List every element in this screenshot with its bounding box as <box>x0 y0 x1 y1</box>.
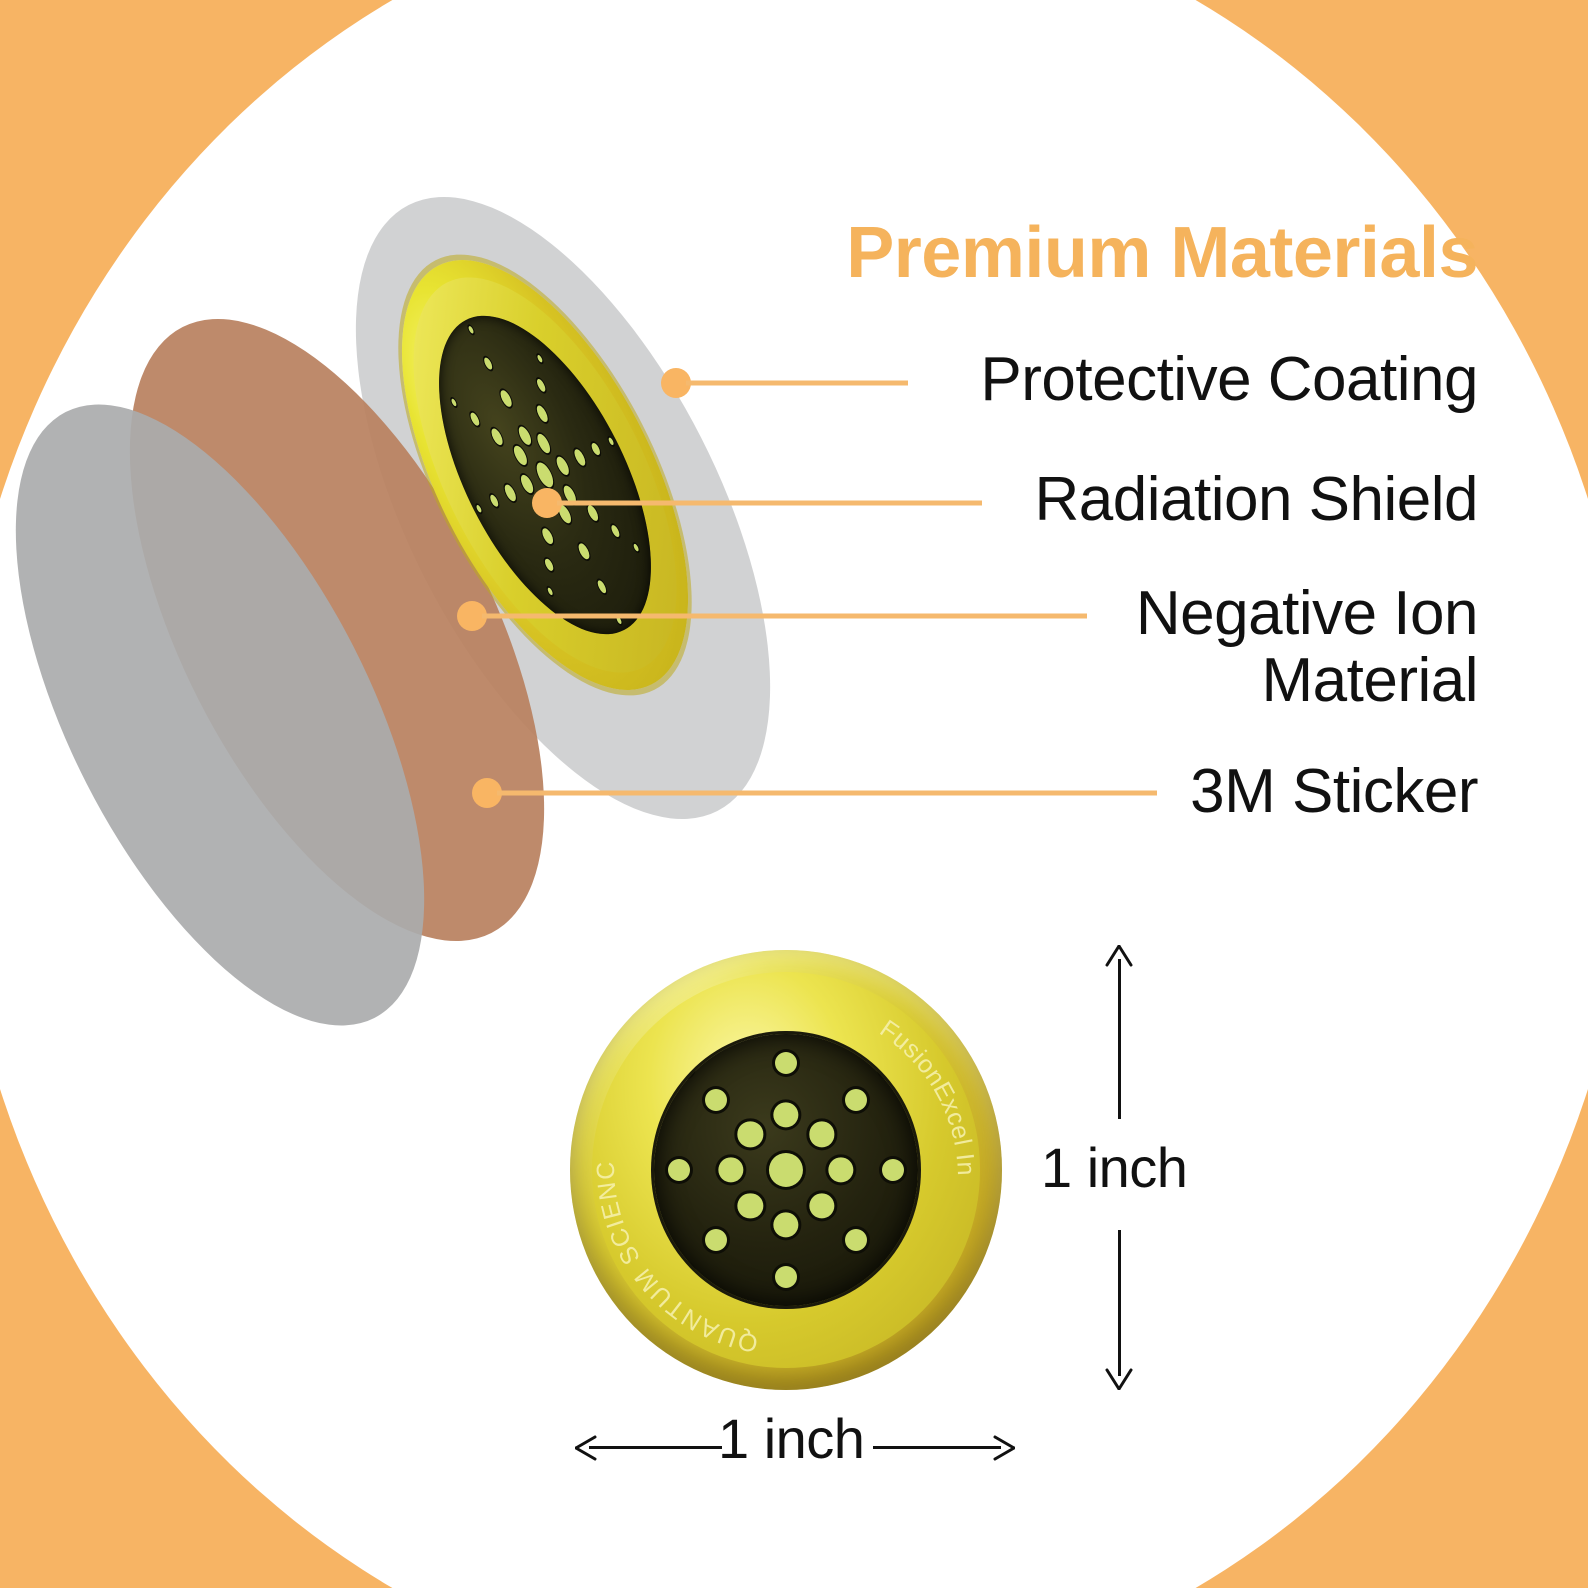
pattern-dot <box>482 356 493 370</box>
leader-line-radiation-shield <box>557 501 982 506</box>
pattern-dot <box>535 432 552 454</box>
pattern-dot <box>845 1089 867 1111</box>
dim-v-lower-shaft <box>1118 1230 1121 1376</box>
pattern-dot <box>809 1193 834 1218</box>
exploded-layer-stack <box>0 0 900 900</box>
material-label-negative-ion-material: Negative Ion Material <box>1136 581 1478 715</box>
pattern-dot <box>518 473 535 495</box>
pattern-dot <box>468 326 475 335</box>
dim-h-arrow-left <box>575 1433 597 1463</box>
pattern-dot <box>775 1266 797 1288</box>
dim-v-arrow-up <box>1103 945 1135 967</box>
pattern-dot <box>590 442 601 456</box>
pattern-dot <box>845 1229 867 1251</box>
pattern-dot <box>547 587 554 596</box>
material-label-3m-sticker: 3M Sticker <box>1190 759 1478 826</box>
pattern-dot <box>738 1193 763 1218</box>
pattern-dot <box>476 504 483 513</box>
pattern-dot <box>738 1122 763 1147</box>
pattern-dot <box>585 504 600 523</box>
dim-v-upper-shaft <box>1118 959 1121 1119</box>
pattern-dot <box>633 543 640 552</box>
pattern-dot <box>576 542 591 561</box>
page-title: Premium Materials <box>846 217 1478 289</box>
dimension-horizontal-label: 1 inch <box>718 1406 864 1471</box>
pattern-dot <box>533 460 556 490</box>
pattern-dot <box>596 579 607 593</box>
pattern-dot <box>705 1229 727 1251</box>
pattern-dot <box>828 1157 853 1182</box>
leader-line-protective-coating <box>686 381 908 386</box>
pattern-dot <box>773 1212 798 1237</box>
pattern-dot <box>773 1102 798 1127</box>
dimension-vertical: 1 inch <box>1116 945 1122 1390</box>
leader-line-3m-sticker <box>497 791 1157 796</box>
pattern-dot <box>540 527 555 546</box>
pattern-dot <box>668 1159 690 1181</box>
pattern-dot <box>535 404 550 423</box>
dim-h-left-shaft <box>589 1446 722 1449</box>
pattern-dot <box>469 412 480 426</box>
pattern-dot <box>718 1157 743 1182</box>
pattern-dot <box>503 483 518 502</box>
material-label-radiation-shield: Radiation Shield <box>1034 467 1478 534</box>
pattern-dot <box>535 378 546 392</box>
pattern-dot <box>554 455 571 477</box>
pattern-dot <box>572 448 587 467</box>
product-infographic: Premium Materials Protective Coating Rad… <box>0 0 1588 1588</box>
dim-h-right-shaft <box>873 1446 1001 1449</box>
pattern-dot <box>498 389 513 408</box>
pattern-dot <box>516 425 533 447</box>
pattern-dot <box>543 557 554 571</box>
product-disc-face <box>654 1034 918 1307</box>
material-label-protective-coating: Protective Coating <box>980 347 1478 414</box>
dim-h-arrow-right <box>993 1433 1015 1463</box>
product-disc: FusionExcel International QUANTUM SCIENC… <box>570 950 1002 1390</box>
pattern-dot <box>705 1089 727 1111</box>
pattern-dot <box>608 437 615 446</box>
dimension-vertical-label: 1 inch <box>1041 1135 1187 1200</box>
pattern-dot <box>676 1060 693 1077</box>
pattern-dot <box>536 354 543 363</box>
pattern-dot <box>609 524 620 538</box>
pattern-dot <box>489 427 504 446</box>
dim-v-arrow-down <box>1103 1368 1135 1390</box>
pattern-dot <box>775 1052 797 1074</box>
pattern-dot <box>769 1153 803 1187</box>
pattern-dot <box>809 1122 834 1147</box>
pattern-dot <box>880 1264 897 1281</box>
leader-line-negative-ion-material <box>482 614 1087 619</box>
dimension-horizontal: 1 inch <box>575 1444 1015 1450</box>
pattern-dot <box>451 398 458 407</box>
pattern-dot <box>489 494 500 508</box>
pattern-dot <box>676 1264 693 1281</box>
pattern-dot <box>512 444 529 466</box>
pattern-dot <box>882 1159 904 1181</box>
pattern-dot <box>880 1060 897 1077</box>
